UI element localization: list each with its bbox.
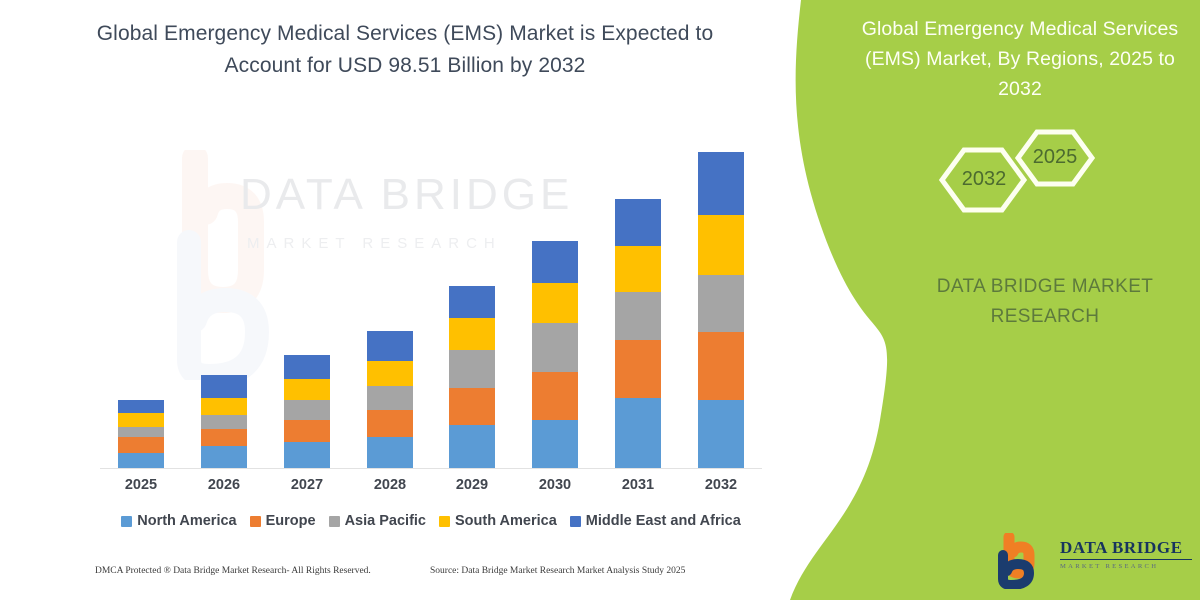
bar-segment-2028-europe bbox=[367, 410, 413, 437]
bar-segment-2031-south-america bbox=[615, 246, 661, 292]
bar-2027[interactable] bbox=[284, 355, 330, 468]
bar-segment-2026-asia-pacific bbox=[201, 415, 247, 429]
bars-layer bbox=[100, 140, 762, 468]
x-axis-label-2027: 2027 bbox=[277, 477, 337, 493]
legend-label: South America bbox=[455, 513, 557, 529]
bar-segment-2030-south-america bbox=[532, 283, 578, 323]
panel-title: Global Emergency Medical Services (EMS) … bbox=[860, 14, 1180, 104]
footer: DMCA Protected ® Data Bridge Market Rese… bbox=[0, 566, 800, 588]
bar-segment-2029-asia-pacific bbox=[449, 350, 495, 388]
legend-item-middle-east-and-africa[interactable]: Middle East and Africa bbox=[570, 513, 741, 529]
bar-segment-2029-south-america bbox=[449, 318, 495, 350]
bar-segment-2027-asia-pacific bbox=[284, 400, 330, 420]
bar-segment-2032-europe bbox=[698, 332, 744, 400]
x-axis-line bbox=[100, 468, 762, 469]
infographic-canvas: Global Emergency Medical Services (EMS) … bbox=[0, 0, 1200, 600]
bar-2031[interactable] bbox=[615, 199, 661, 468]
bar-2032[interactable] bbox=[698, 152, 744, 468]
bar-segment-2025-europe bbox=[118, 437, 164, 453]
legend-item-europe[interactable]: Europe bbox=[250, 513, 316, 529]
bar-2028[interactable] bbox=[367, 331, 413, 468]
company-logo-rule bbox=[1060, 559, 1192, 560]
bar-2026[interactable] bbox=[201, 375, 247, 468]
legend-label: Europe bbox=[266, 513, 316, 529]
legend-label: Asia Pacific bbox=[345, 513, 426, 529]
bar-segment-2031-middle-east-and-africa bbox=[615, 199, 661, 246]
legend-swatch-icon bbox=[439, 516, 450, 527]
chart-pane: Global Emergency Medical Services (EMS) … bbox=[0, 0, 800, 600]
bar-2030[interactable] bbox=[532, 241, 578, 468]
footer-copyright: DMCA Protected ® Data Bridge Market Rese… bbox=[95, 566, 371, 576]
brand-name: DATA BRIDGE MARKET RESEARCH bbox=[900, 272, 1190, 332]
bar-segment-2032-asia-pacific bbox=[698, 275, 744, 332]
x-axis-label-2028: 2028 bbox=[360, 477, 420, 493]
bar-segment-2030-europe bbox=[532, 372, 578, 420]
bar-segment-2027-europe bbox=[284, 420, 330, 442]
bar-segment-2032-north-america bbox=[698, 400, 744, 468]
bar-2029[interactable] bbox=[449, 286, 495, 468]
hexagon-2032-label: 2032 bbox=[948, 168, 1020, 191]
x-axis-label-2030: 2030 bbox=[525, 477, 585, 493]
hexagon-group: 2032 2025 bbox=[920, 118, 1120, 233]
bar-segment-2027-south-america bbox=[284, 379, 330, 400]
bar-segment-2028-south-america bbox=[367, 361, 413, 386]
bar-segment-2027-north-america bbox=[284, 442, 330, 468]
bar-segment-2028-asia-pacific bbox=[367, 386, 413, 410]
x-axis-label-2029: 2029 bbox=[442, 477, 502, 493]
bar-segment-2031-europe bbox=[615, 340, 661, 398]
company-logo-main: DATA BRIDGE bbox=[1060, 538, 1200, 558]
bar-segment-2030-middle-east-and-africa bbox=[532, 241, 578, 283]
bar-segment-2026-middle-east-and-africa bbox=[201, 375, 247, 398]
company-logo-sub: MARKET RESEARCH bbox=[1060, 563, 1200, 570]
company-logo-text: DATA BRIDGE MARKET RESEARCH bbox=[1060, 538, 1200, 570]
bar-segment-2026-north-america bbox=[201, 446, 247, 468]
hexagon-2025-label: 2025 bbox=[1025, 146, 1085, 169]
legend-item-north-america[interactable]: North America bbox=[121, 513, 236, 529]
x-axis-label-2026: 2026 bbox=[194, 477, 254, 493]
bar-segment-2029-middle-east-and-africa bbox=[449, 286, 495, 318]
bar-segment-2025-asia-pacific bbox=[118, 427, 164, 437]
bar-segment-2028-middle-east-and-africa bbox=[367, 331, 413, 361]
bar-segment-2027-middle-east-and-africa bbox=[284, 355, 330, 379]
bar-segment-2030-north-america bbox=[532, 420, 578, 468]
bar-segment-2030-asia-pacific bbox=[532, 323, 578, 372]
legend-swatch-icon bbox=[250, 516, 261, 527]
legend-label: North America bbox=[137, 513, 236, 529]
x-axis-label-2031: 2031 bbox=[608, 477, 668, 493]
legend-label: Middle East and Africa bbox=[586, 513, 741, 529]
bar-segment-2026-south-america bbox=[201, 398, 247, 415]
bar-segment-2029-north-america bbox=[449, 425, 495, 468]
legend-item-south-america[interactable]: South America bbox=[439, 513, 557, 529]
bar-segment-2025-middle-east-and-africa bbox=[118, 400, 164, 413]
bar-segment-2032-middle-east-and-africa bbox=[698, 152, 744, 215]
legend-item-asia-pacific[interactable]: Asia Pacific bbox=[329, 513, 426, 529]
bar-segment-2029-europe bbox=[449, 388, 495, 425]
x-axis-label-2025: 2025 bbox=[111, 477, 171, 493]
bar-segment-2028-north-america bbox=[367, 437, 413, 468]
bar-segment-2031-north-america bbox=[615, 398, 661, 468]
chart-legend: North AmericaEuropeAsia PacificSouth Ame… bbox=[100, 510, 762, 532]
bar-segment-2026-europe bbox=[201, 429, 247, 446]
x-axis-labels: 20252026202720282029203020312032 bbox=[100, 475, 762, 499]
page-title: Global Emergency Medical Services (EMS) … bbox=[60, 18, 750, 82]
bar-2025[interactable] bbox=[118, 400, 164, 468]
legend-swatch-icon bbox=[121, 516, 132, 527]
legend-swatch-icon bbox=[570, 516, 581, 527]
bar-segment-2032-south-america bbox=[698, 215, 744, 275]
x-axis-label-2032: 2032 bbox=[691, 477, 751, 493]
bar-segment-2025-south-america bbox=[118, 413, 164, 427]
bar-segment-2031-asia-pacific bbox=[615, 292, 661, 340]
legend-swatch-icon bbox=[329, 516, 340, 527]
bar-segment-2025-north-america bbox=[118, 453, 164, 468]
footer-source: Source: Data Bridge Market Research Mark… bbox=[430, 566, 685, 576]
